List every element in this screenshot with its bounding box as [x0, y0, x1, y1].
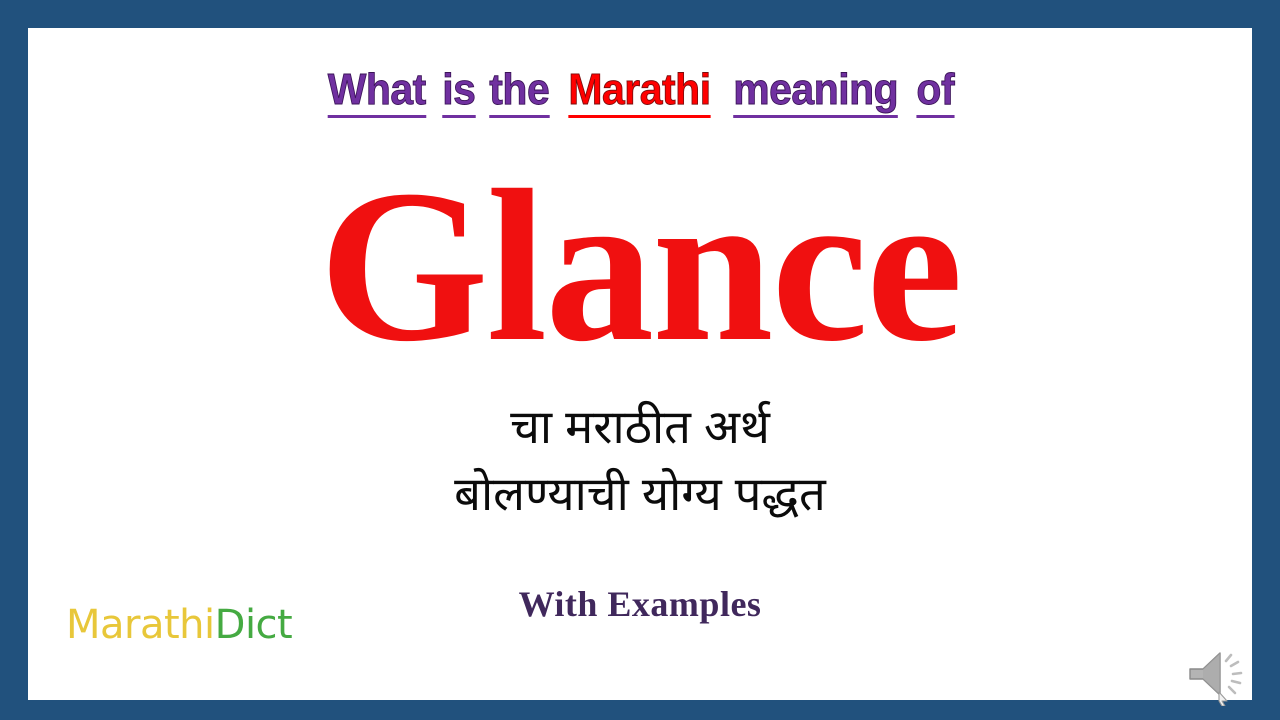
title-space — [476, 101, 487, 104]
title-word-of: of — [917, 68, 955, 118]
devanagari-line-2: बोलण्याची योग्य पद्धत — [28, 461, 1252, 528]
title-word-meaning: meaning — [733, 68, 898, 118]
headword-text: Glance — [28, 158, 1252, 376]
title-word-is: is — [442, 68, 475, 118]
slide-frame: WhatistheMarathimeaningof Glance चा मराठ… — [0, 0, 1280, 720]
brand-logo-marathi: Marathi — [66, 602, 215, 648]
slide-canvas: WhatistheMarathimeaningof Glance चा मराठ… — [28, 28, 1252, 700]
title-space — [552, 101, 563, 104]
title-word-what: What — [328, 68, 426, 118]
title-space — [430, 101, 441, 104]
title-word-marathi: Marathi — [568, 68, 710, 118]
title-space — [716, 101, 727, 104]
speaker-volume-icon[interactable] — [1186, 648, 1248, 706]
page-title: WhatistheMarathimeaningof — [28, 68, 1252, 118]
title-word-the: the — [490, 68, 550, 118]
title-space — [904, 101, 915, 104]
brand-logo-dict: Dict — [215, 602, 293, 648]
devanagari-line-1: चा मराठीत अर्थ — [28, 394, 1252, 461]
brand-logo: MarathiDict — [66, 605, 292, 645]
devanagari-block: चा मराठीत अर्थ बोलण्याची योग्य पद्धत — [28, 394, 1252, 527]
